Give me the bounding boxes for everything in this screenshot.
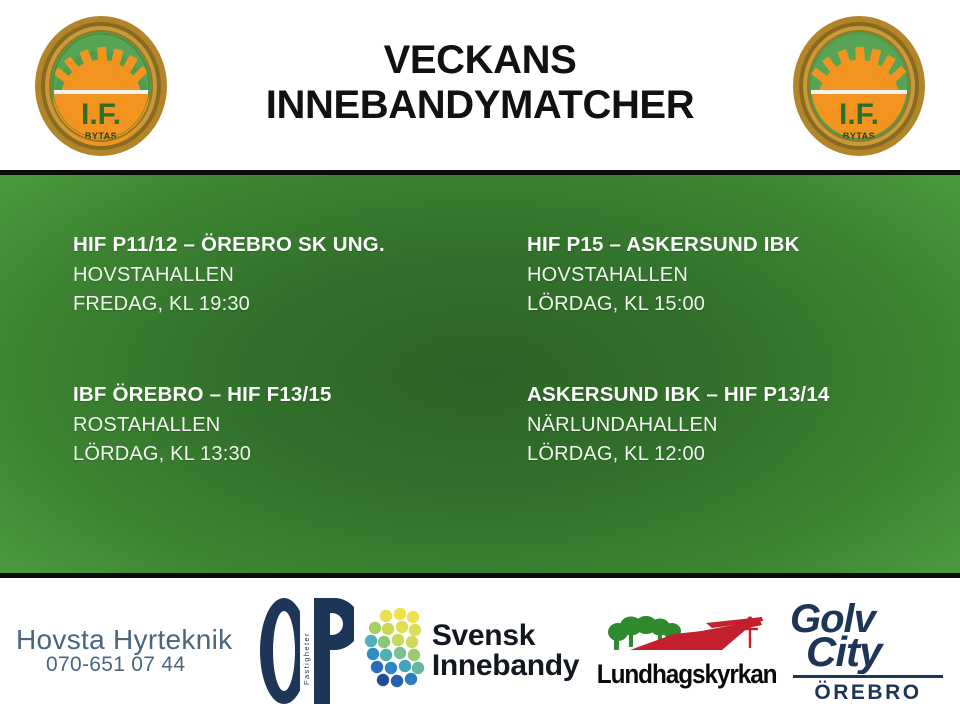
match-time: LÖRDAG, KL 12:00 [527,443,960,466]
match-venue: NÄRLUNDAHALLEN [527,414,960,437]
match-item: HIF P11/12 – ÖREBRO SK UNG. HOVSTAHALLEN… [0,233,480,383]
poster-header: I.F. BYTAS VECKANS INNEBANDYMATCHER [0,0,960,170]
sponsor-hyrteknik-name: Hovsta Hyrteknik [16,624,232,656]
op-fastigheter-logo-icon: Fastigheter [256,595,354,707]
crest-mid-text-right: I.F. [839,98,879,131]
golv-city-line-3: ÖREBRO [814,681,921,705]
lundhagskyrkan-wordmark: Lundhagskyrkan [597,659,777,690]
match-venue: HOVSTAHALLEN [73,264,480,287]
svensk-innebandy-line-2: Innebandy [432,651,579,681]
sponsor-footer: Hovsta Hyrteknik 070-651 07 44 Fastighet… [0,578,960,723]
svensk-innebandy-wordmark: Svensk Innebandy [432,621,579,681]
match-venue: ROSTAHALLEN [73,414,480,437]
page-title: VECKANS INNEBANDYMATCHER [266,38,694,132]
golv-city-rule [793,675,943,678]
match-item: HIF P15 – ASKERSUND IBK HOVSTAHALLEN LÖR… [480,233,960,383]
sponsor-hovsta-hyrteknik: Hovsta Hyrteknik 070-651 07 44 [8,624,256,677]
match-venue: HOVSTAHALLEN [527,264,960,287]
page-title-line-1: VECKANS [384,38,577,82]
sponsor-hyrteknik-phone: 070-651 07 44 [16,653,185,677]
sponsor-lundhagskyrkan: Lundhagskyrkan [589,612,785,690]
golv-city-wordmark-icon: Golv City [786,596,950,674]
poster-root: I.F. BYTAS VECKANS INNEBANDYMATCHER [0,0,960,723]
lundhagskyrkan-mark-icon [600,612,775,660]
golv-city-line-2: City [806,628,885,674]
match-time: LÖRDAG, KL 15:00 [527,293,960,316]
match-item: IBF ÖREBRO – HIF F13/15 ROSTAHALLEN LÖRD… [0,383,480,533]
match-item: ASKERSUND IBK – HIF P13/14 NÄRLUNDAHALLE… [480,383,960,533]
hovsta-if-crest-icon-right: I.F. BYTAS [790,14,928,158]
svensk-innebandy-line-1: Svensk [432,621,579,651]
match-time: LÖRDAG, KL 13:30 [73,443,480,466]
sponsor-op-fastigheter: Fastigheter [256,596,354,706]
match-list-panel: HIF P11/12 – ÖREBRO SK UNG. HOVSTAHALLEN… [0,175,960,573]
match-teams: HIF P11/12 – ÖREBRO SK UNG. [73,233,480,257]
op-vertical-text: Fastigheter [302,632,311,685]
match-grid: HIF P11/12 – ÖREBRO SK UNG. HOVSTAHALLEN… [0,175,960,573]
sponsor-svensk-innebandy: Svensk Innebandy [354,608,589,694]
match-teams: ASKERSUND IBK – HIF P13/14 [527,383,960,407]
crest-mid-text-left: I.F. [81,98,121,131]
match-teams: HIF P15 – ASKERSUND IBK [527,233,960,257]
match-time: FREDAG, KL 19:30 [73,293,480,316]
page-title-line-2: INNEBANDYMATCHER [266,83,694,128]
hovsta-if-crest-icon-left: I.F. BYTAS [32,14,170,158]
svensk-innebandy-dots-icon [364,608,428,694]
sponsor-golv-city: Golv City ÖREBRO [785,596,955,705]
match-teams: IBF ÖREBRO – HIF F13/15 [73,383,480,407]
